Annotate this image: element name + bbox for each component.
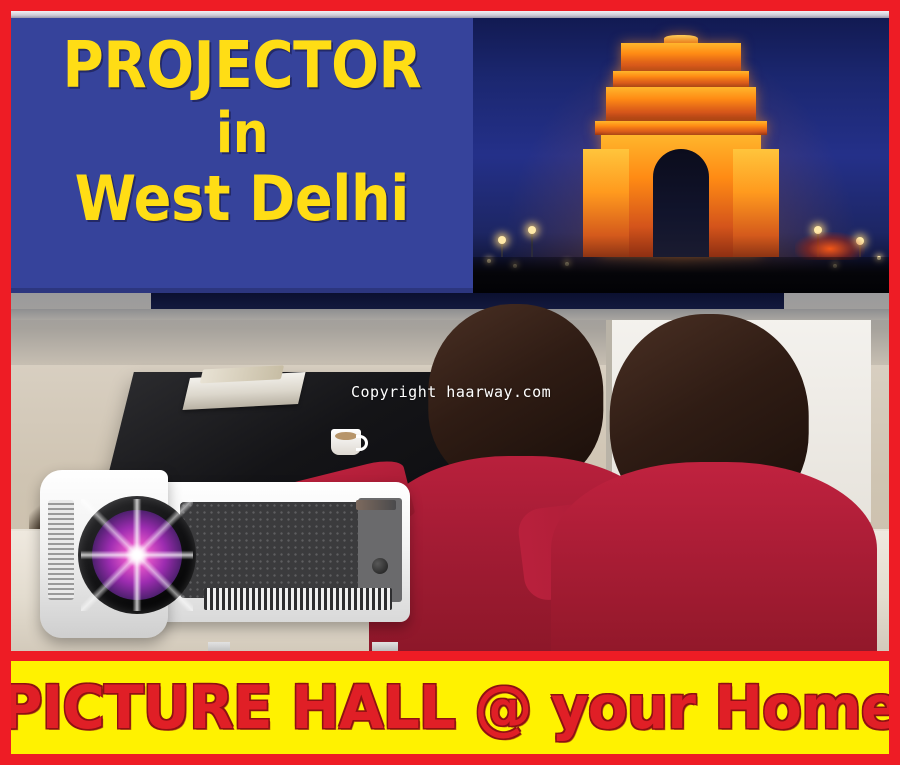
headline-line-1: PROJECTOR	[63, 36, 422, 97]
street-lamp-icon	[501, 241, 503, 257]
projector-vent	[204, 588, 392, 610]
advertisement-poster: PROJECTOR in West Delhi	[0, 0, 900, 765]
magazines-on-table	[182, 372, 305, 410]
living-room-photo: Copyright haarway.com	[11, 293, 889, 651]
projector-rear-foot	[372, 642, 398, 651]
monument-cornice	[595, 121, 767, 135]
projector-lens	[92, 510, 182, 600]
screen-top-edge	[11, 11, 889, 18]
projector-side-panel	[358, 498, 402, 602]
monument-mid-tier	[606, 87, 756, 121]
monument-pillar-left	[583, 149, 629, 257]
projector-front-housing	[40, 470, 168, 638]
coffee-cup	[331, 429, 361, 455]
projector-device	[40, 470, 410, 650]
projector-badge	[356, 500, 396, 510]
headline-text-group: PROJECTOR in West Delhi	[11, 18, 473, 293]
india-gate-monument	[581, 32, 781, 257]
headline-line-3: West Delhi	[75, 169, 409, 229]
distant-lights-glow	[795, 232, 865, 260]
lens-flare-icon	[81, 499, 193, 611]
projector-foot	[208, 642, 230, 651]
copyright-watermark: Copyright haarway.com	[351, 383, 551, 401]
projector-indicator-icon	[372, 558, 388, 574]
monument-archway	[653, 149, 709, 257]
crowd-silhouette	[473, 257, 889, 293]
projected-screen-area: PROJECTOR in West Delhi	[11, 11, 889, 293]
projector-intake-vent	[48, 500, 74, 600]
street-lamp-icon	[531, 231, 533, 257]
monument-top-tier	[621, 43, 741, 73]
person-woman	[582, 307, 837, 651]
monument-pillar-right	[733, 149, 779, 257]
tagline-text: PICTURE HALL @ your Home	[11, 673, 889, 743]
woman-sweater	[551, 462, 877, 651]
monument-top-ledge	[613, 71, 749, 87]
india-gate-photo	[473, 18, 889, 293]
tagline-banner: PICTURE HALL @ your Home	[11, 661, 889, 754]
projector-lens-ring	[78, 496, 196, 614]
headline-line-2: in	[216, 107, 268, 161]
projector-speaker-grill	[180, 502, 370, 598]
